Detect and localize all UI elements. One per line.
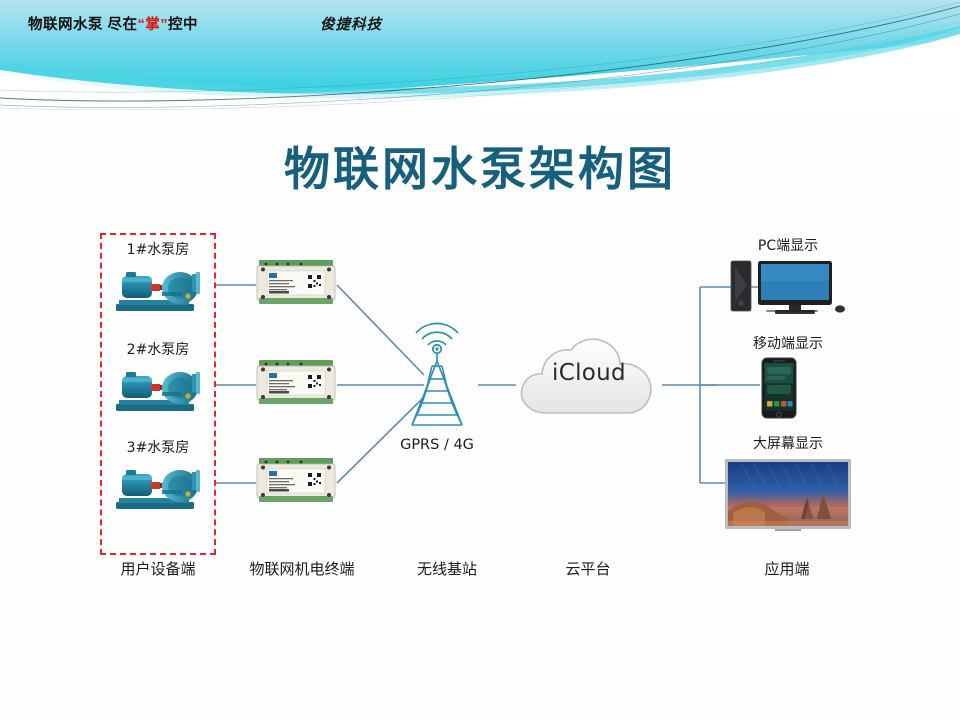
cell-tower-icon [392,321,482,433]
pump-station-2-label: 2#水泵房 [100,339,216,359]
stage-label-base-station: 无线基站 [382,558,512,579]
stage-label-application: 应用端 [722,558,852,579]
stage-label-user-equipment: 用户设备端 [98,558,218,579]
architecture-diagram: 1#水泵房 [0,225,960,595]
smartphone-icon [728,357,848,419]
cloud-platform-label: iCloud [513,360,665,386]
iot-terminal-icon [255,456,337,506]
iot-terminal-icon [255,258,337,308]
brand-logo-text: 俊捷科技 [320,13,382,34]
water-pump-icon [110,460,206,516]
app-endpoint-mobile-label: 移动端显示 [728,333,848,353]
slide-canvas: 物联网水泵 尽在“掌”控中 俊捷科技 物联网水泵架构图 [0,0,960,720]
base-station-graphic [392,321,482,433]
tagline-highlight: 掌 [145,17,160,33]
pump-station-3: 3#水泵房 [100,437,216,521]
desktop-pc-icon [728,259,848,317]
iot-gateway-device-1 [255,258,337,308]
app-endpoint-pc: PC端显示 [728,235,848,322]
iot-gateway-device-2 [255,358,337,408]
pump-station-1: 1#水泵房 [100,239,216,323]
app-endpoint-large-screen-label: 大屏幕显示 [723,433,853,453]
water-pump-icon [110,362,206,418]
app-endpoint-pc-label: PC端显示 [728,235,848,255]
banner-tagline: 物联网水泵 尽在“掌”控中 [28,13,198,34]
large-screen-icon [723,457,853,531]
stage-label-row: 用户设备端 物联网机电终端 无线基站 云平台 应用端 [0,558,960,584]
tagline-pre: 物联网水泵 尽在 [28,17,138,33]
page-title: 物联网水泵架构图 [0,133,960,199]
tagline-post: 控中 [168,17,198,33]
stage-label-iot-terminal: 物联网机电终端 [222,558,382,579]
water-pump-icon [110,262,206,318]
pump-station-1-label: 1#水泵房 [100,239,216,259]
top-banner: 物联网水泵 尽在“掌”控中 俊捷科技 [0,0,960,112]
app-endpoint-large-screen: 大屏幕显示 [723,433,853,536]
pump-station-2: 2#水泵房 [100,339,216,423]
iot-gateway-device-3 [255,456,337,506]
base-station-label: GPRS / 4G [370,437,504,453]
iot-terminal-icon [255,358,337,408]
app-endpoint-mobile: 移动端显示 [728,333,848,424]
tagline-quote-close: ” [160,17,168,33]
pump-station-3-label: 3#水泵房 [100,437,216,457]
stage-label-cloud-platform: 云平台 [528,558,648,579]
